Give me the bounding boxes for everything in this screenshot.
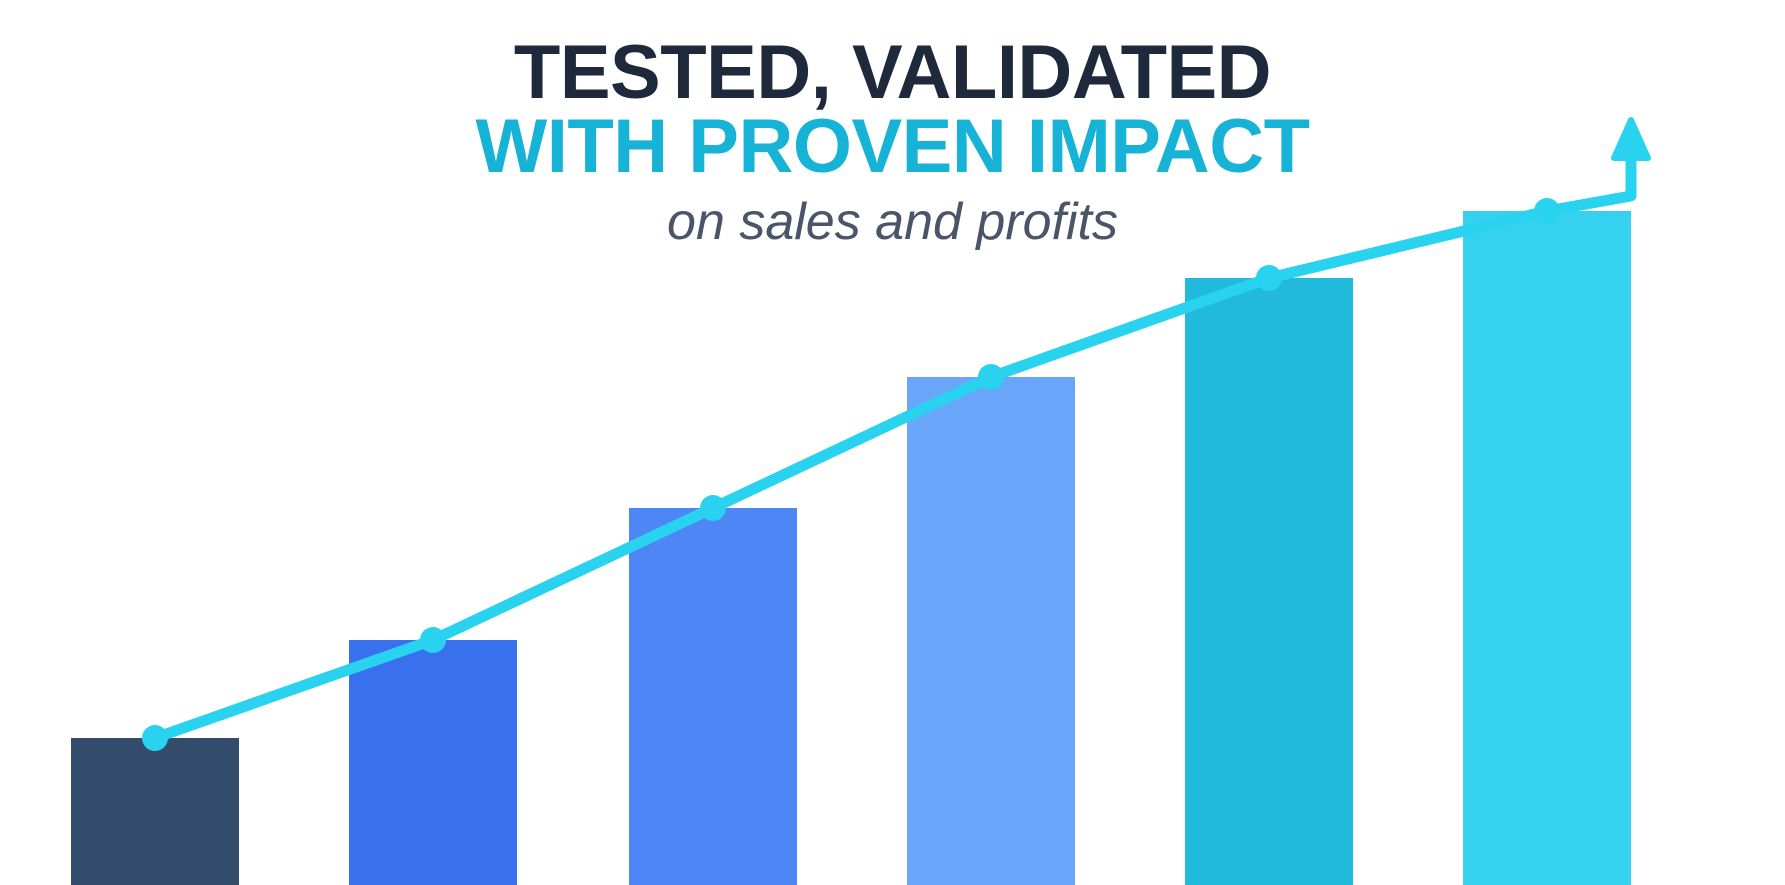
trend-marker-3 (700, 495, 726, 521)
bar-3 (629, 508, 797, 885)
bar-5 (1185, 278, 1353, 885)
growth-bar-chart (0, 0, 1785, 885)
bar-group (71, 211, 1631, 885)
infographic-canvas: TESTED, VALIDATED WITH PROVEN IMPACT on … (0, 0, 1785, 885)
trend-marker-1 (142, 725, 168, 751)
bar-4 (907, 377, 1075, 885)
trend-arrow-head (1614, 120, 1648, 158)
bar-2 (349, 640, 517, 885)
trend-marker-2 (420, 627, 446, 653)
trend-marker-4 (978, 364, 1004, 390)
trend-marker-6 (1534, 198, 1560, 224)
bar-6 (1463, 211, 1631, 885)
chart-svg (0, 0, 1785, 885)
bar-1 (71, 738, 239, 885)
trend-marker-5 (1256, 265, 1282, 291)
